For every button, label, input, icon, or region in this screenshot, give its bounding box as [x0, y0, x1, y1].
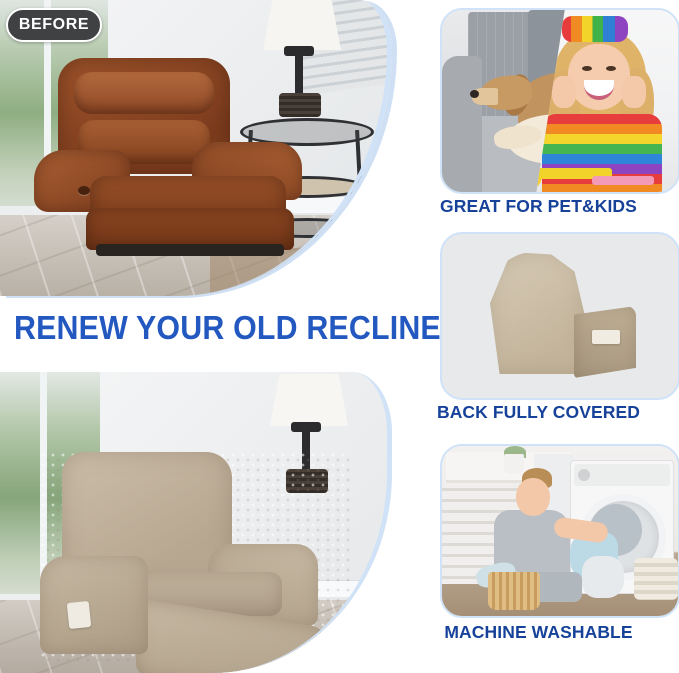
after-photo: AFTER	[0, 372, 392, 673]
lamp-shade	[263, 0, 341, 50]
slipcover-pocket	[592, 330, 620, 344]
brown-recliner	[34, 58, 316, 254]
slipcover-back-panel	[490, 252, 586, 374]
toy-block-pink	[592, 176, 654, 185]
recliner-button	[78, 186, 90, 195]
before-photo: BEFORE	[0, 0, 392, 296]
infographic-canvas: BEFORE RENEW YOUR OLD RECLINER	[0, 0, 679, 673]
after-room-scene	[0, 372, 392, 673]
feature-column: GREAT FOR PET&KIDS BACK FULLY COVERED	[398, 0, 679, 673]
covered-recliner	[40, 452, 350, 662]
lamp-shade-after	[270, 374, 348, 426]
laundry-basket	[488, 572, 540, 610]
cover-side-pocket	[67, 601, 92, 629]
kid-rainbow-headband	[562, 16, 628, 42]
cover-arm-left	[40, 556, 148, 654]
feature-image-back-covered	[440, 232, 679, 400]
page-title: RENEW YOUR OLD RECLINER	[14, 300, 394, 356]
feature-image-pet-kids	[440, 8, 679, 194]
dog-nose	[470, 90, 479, 98]
before-room-scene	[0, 0, 392, 296]
feature-caption-back-covered: BACK FULLY COVERED	[398, 402, 679, 423]
kid-hand-right	[622, 76, 646, 108]
kid-eye-right	[606, 66, 616, 71]
kid-hand-left	[552, 76, 576, 108]
before-after-column: BEFORE RENEW YOUR OLD RECLINER	[0, 0, 400, 673]
feature-caption-pet-kids: GREAT FOR PET&KIDS	[398, 196, 679, 217]
washer-dial	[578, 469, 590, 481]
folded-towels	[634, 558, 678, 600]
feature-image-machine-washable	[440, 444, 679, 618]
woman-head	[516, 478, 550, 516]
recliner-foot	[96, 244, 284, 256]
feature-caption-machine-washable: MACHINE WASHABLE	[398, 622, 679, 643]
laundry-room-scene	[442, 446, 678, 616]
kid-eye-left	[582, 66, 592, 71]
sofa-arm	[442, 56, 482, 192]
headline-text: RENEW YOUR OLD RECLINER	[14, 309, 463, 347]
laundry-cloth-white	[582, 556, 624, 598]
shelf-pot	[504, 454, 524, 474]
badge-before: BEFORE	[6, 8, 102, 42]
kid-face	[568, 44, 630, 110]
